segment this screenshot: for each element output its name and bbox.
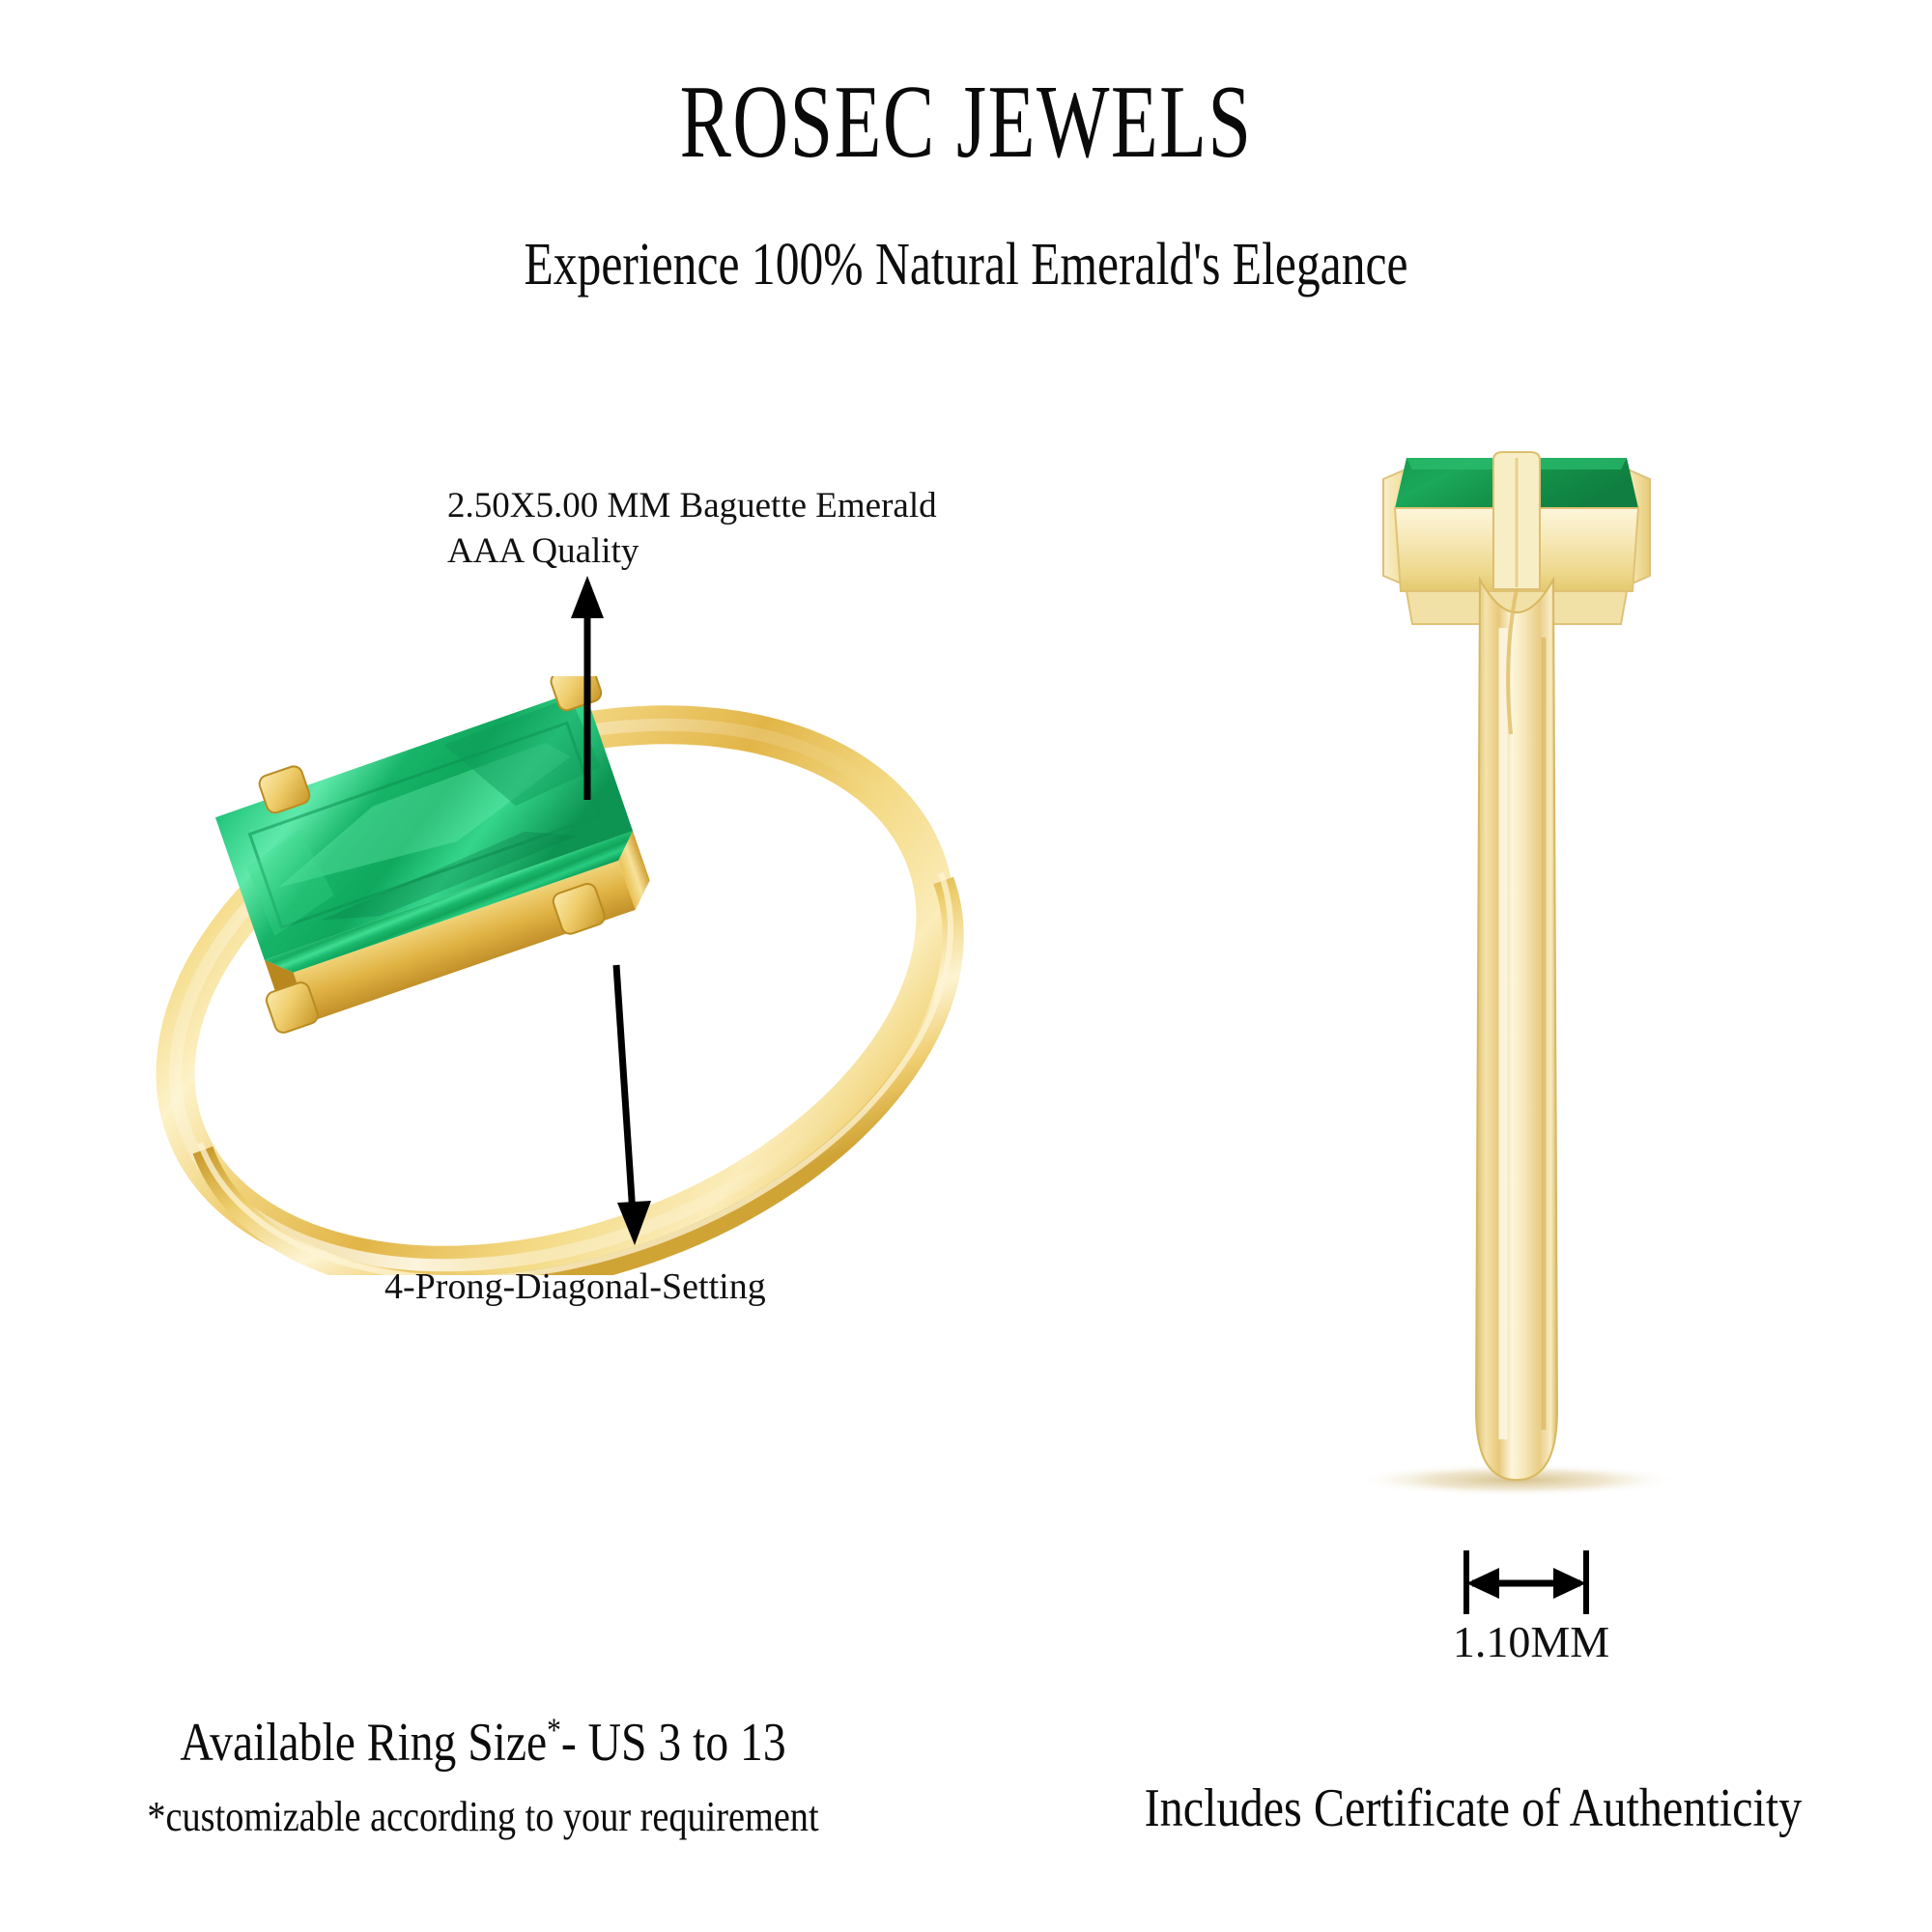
annotation-setting: 4-Prong-Diagonal-Setting xyxy=(384,1264,925,1311)
ring-side-profile-view xyxy=(1314,444,1719,1555)
arrow-up-icon xyxy=(541,572,657,804)
dim-arrowhead-left xyxy=(1466,1568,1499,1599)
page-subtitle: Experience 100% Natural Emerald's Elegan… xyxy=(193,232,1739,298)
ring-size-prefix: Available Ring Size xyxy=(180,1713,547,1773)
ring-size-suffix: - US 3 to 13 xyxy=(561,1713,786,1773)
arrow-down-icon xyxy=(541,961,696,1251)
dim-arrowhead-right xyxy=(1553,1568,1586,1599)
product-infographic-page: ROSEC JEWELS Experience 100% Natural Eme… xyxy=(0,0,1932,1932)
band-width-label: 1.10MM xyxy=(1406,1616,1657,1667)
ring-size-note: *customizable according to your requirem… xyxy=(97,1792,869,1841)
ring-size-asterisk: * xyxy=(547,1711,561,1748)
certificate-note: Includes Certificate of Authenticity xyxy=(1087,1777,1860,1839)
annotation-gem-spec: 2.50X5.00 MM Baguette Emerald AAA Qualit… xyxy=(447,483,1065,575)
ring-size-line: Available Ring Size*- US 3 to 13 xyxy=(122,1712,844,1774)
page-title: ROSEC JEWELS xyxy=(251,68,1681,177)
